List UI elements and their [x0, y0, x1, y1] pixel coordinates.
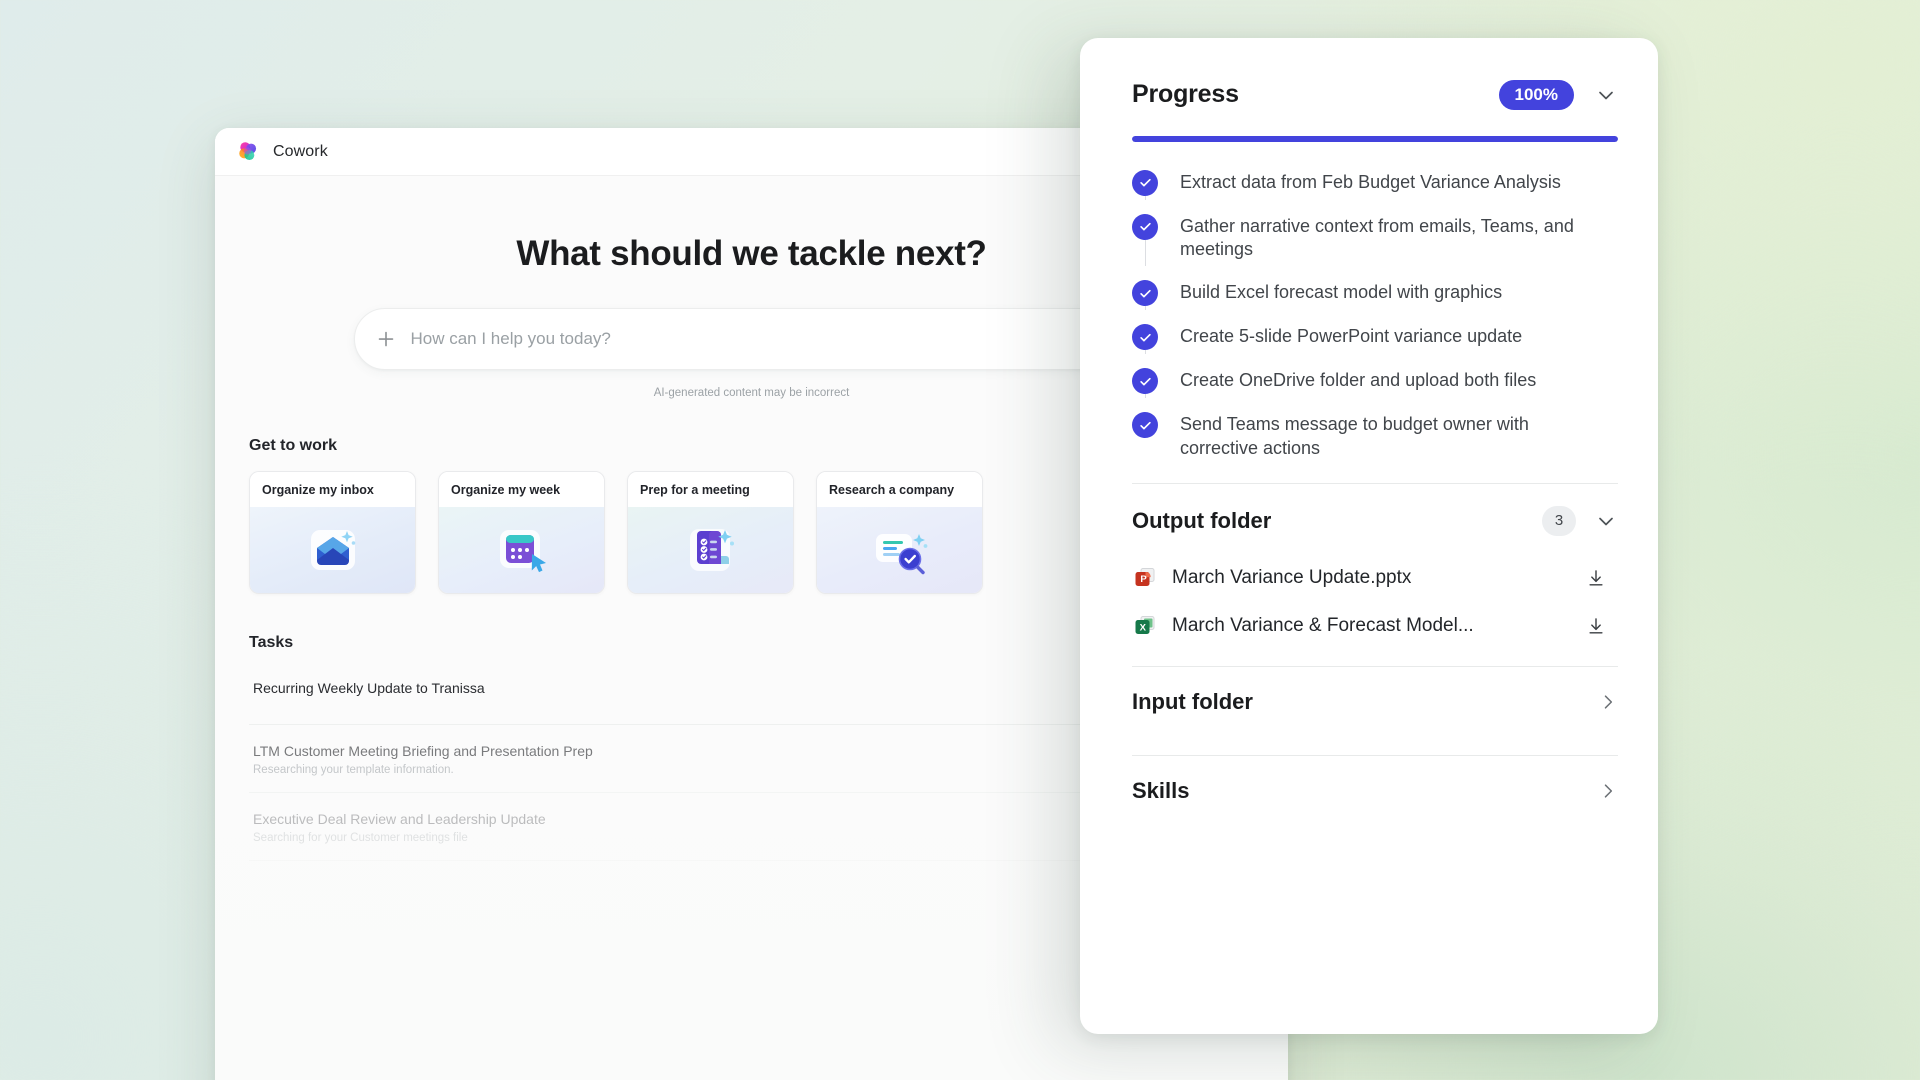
prompt-input-bar[interactable]: How can I help you today? — [354, 308, 1150, 370]
check-circle-icon — [1132, 368, 1158, 394]
progress-panel: Progress 100% Extract data from Feb Budg… — [1080, 38, 1658, 1034]
task-subtitle: Researching your template information. — [253, 764, 593, 776]
task-title: Executive Deal Review and Leadership Upd… — [253, 811, 546, 827]
output-folder-count: 3 — [1542, 506, 1576, 536]
step-connector-line — [1145, 394, 1147, 398]
svg-text:P: P — [1140, 574, 1147, 585]
step-label: Create 5-slide PowerPoint variance updat… — [1180, 324, 1522, 350]
card-title: Research a company — [817, 472, 982, 507]
card-artwork — [628, 507, 793, 593]
card-research-a-company[interactable]: Research a company — [816, 471, 983, 594]
file-name: March Variance & Forecast Model... — [1172, 615, 1572, 637]
task-title: LTM Customer Meeting Briefing and Presen… — [253, 743, 593, 759]
step-connector-line — [1145, 306, 1147, 310]
card-title: Organize my inbox — [250, 472, 415, 507]
step-marker — [1132, 324, 1158, 350]
card-artwork — [250, 507, 415, 593]
prompt-input-placeholder[interactable]: How can I help you today? — [411, 329, 1108, 349]
skills-header[interactable]: Skills — [1132, 756, 1618, 822]
step-label: Send Teams message to budget owner with … — [1180, 412, 1600, 461]
card-title: Prep for a meeting — [628, 472, 793, 507]
check-circle-icon — [1132, 170, 1158, 196]
download-icon[interactable] — [1586, 568, 1606, 588]
list-item: Extract data from Feb Budget Variance An… — [1132, 170, 1618, 214]
excel-file-icon: X — [1132, 613, 1158, 639]
card-title: Organize my week — [439, 472, 604, 507]
list-item[interactable]: P March Variance Update.pptx — [1132, 554, 1618, 602]
plus-icon[interactable] — [373, 326, 399, 352]
progress-header: Progress 100% — [1132, 80, 1618, 110]
step-marker — [1132, 280, 1158, 306]
check-circle-icon — [1132, 214, 1158, 240]
step-marker — [1132, 412, 1158, 461]
list-item: Gather narrative context from emails, Te… — [1132, 214, 1618, 281]
check-circle-icon — [1132, 324, 1158, 350]
step-connector-line — [1145, 350, 1147, 354]
task-main: LTM Customer Meeting Briefing and Presen… — [253, 743, 593, 776]
progress-header-actions: 100% — [1499, 80, 1618, 110]
list-item[interactable]: X March Variance & Forecast Model... — [1132, 602, 1618, 650]
progress-title: Progress — [1132, 80, 1239, 109]
chevron-right-icon[interactable] — [1598, 692, 1618, 712]
chevron-down-icon[interactable] — [1594, 509, 1618, 533]
step-connector-line — [1145, 196, 1147, 200]
calendar-cursor-icon — [486, 518, 558, 582]
progress-bar-fill — [1132, 136, 1618, 142]
step-label: Gather narrative context from emails, Te… — [1180, 214, 1600, 263]
list-item: Send Teams message to budget owner with … — [1132, 412, 1618, 461]
powerpoint-file-icon: P — [1132, 565, 1158, 591]
task-main: Recurring Weekly Update to Tranissa — [253, 680, 485, 696]
progress-step-list: Extract data from Feb Budget Variance An… — [1132, 170, 1618, 461]
checklist-sparkle-icon — [675, 518, 747, 582]
task-main: Executive Deal Review and Leadership Upd… — [253, 811, 546, 844]
check-circle-icon — [1132, 412, 1158, 438]
card-organize-my-inbox[interactable]: Organize my inbox — [249, 471, 416, 594]
svg-text:X: X — [1140, 622, 1147, 633]
file-name: March Variance Update.pptx — [1172, 567, 1572, 589]
envelope-sparkle-icon — [297, 518, 369, 582]
output-folder-actions: 3 — [1542, 506, 1618, 536]
output-folder-header[interactable]: Output folder 3 — [1132, 484, 1618, 554]
document-magnifier-icon — [864, 518, 936, 582]
list-item: Create 5-slide PowerPoint variance updat… — [1132, 324, 1618, 368]
card-artwork — [817, 507, 982, 593]
step-label: Extract data from Feb Budget Variance An… — [1180, 170, 1561, 196]
input-folder-title: Input folder — [1132, 689, 1253, 715]
app-title: Cowork — [273, 143, 328, 161]
step-connector-line — [1145, 240, 1147, 267]
list-item: Build Excel forecast model with graphics — [1132, 280, 1618, 324]
task-subtitle: Searching for your Customer meetings fil… — [253, 832, 546, 844]
chevron-down-icon[interactable] — [1594, 83, 1618, 107]
step-label: Build Excel forecast model with graphics — [1180, 280, 1502, 306]
card-organize-my-week[interactable]: Organize my week — [438, 471, 605, 594]
skills-title: Skills — [1132, 778, 1189, 804]
input-folder-header[interactable]: Input folder — [1132, 667, 1618, 733]
tasks-label: Tasks — [249, 634, 293, 652]
cowork-flower-logo-icon — [237, 141, 259, 163]
card-artwork — [439, 507, 604, 593]
step-marker — [1132, 170, 1158, 196]
progress-bar-track — [1132, 136, 1618, 142]
chevron-right-icon[interactable] — [1598, 781, 1618, 801]
check-circle-icon — [1132, 280, 1158, 306]
step-marker — [1132, 368, 1158, 394]
step-label: Create OneDrive folder and upload both f… — [1180, 368, 1536, 394]
progress-percent-badge: 100% — [1499, 80, 1574, 110]
list-item: Create OneDrive folder and upload both f… — [1132, 368, 1618, 412]
task-title: Recurring Weekly Update to Tranissa — [253, 680, 485, 696]
card-prep-for-a-meeting[interactable]: Prep for a meeting — [627, 471, 794, 594]
step-marker — [1132, 214, 1158, 263]
output-folder-title: Output folder — [1132, 508, 1271, 534]
download-icon[interactable] — [1586, 616, 1606, 636]
